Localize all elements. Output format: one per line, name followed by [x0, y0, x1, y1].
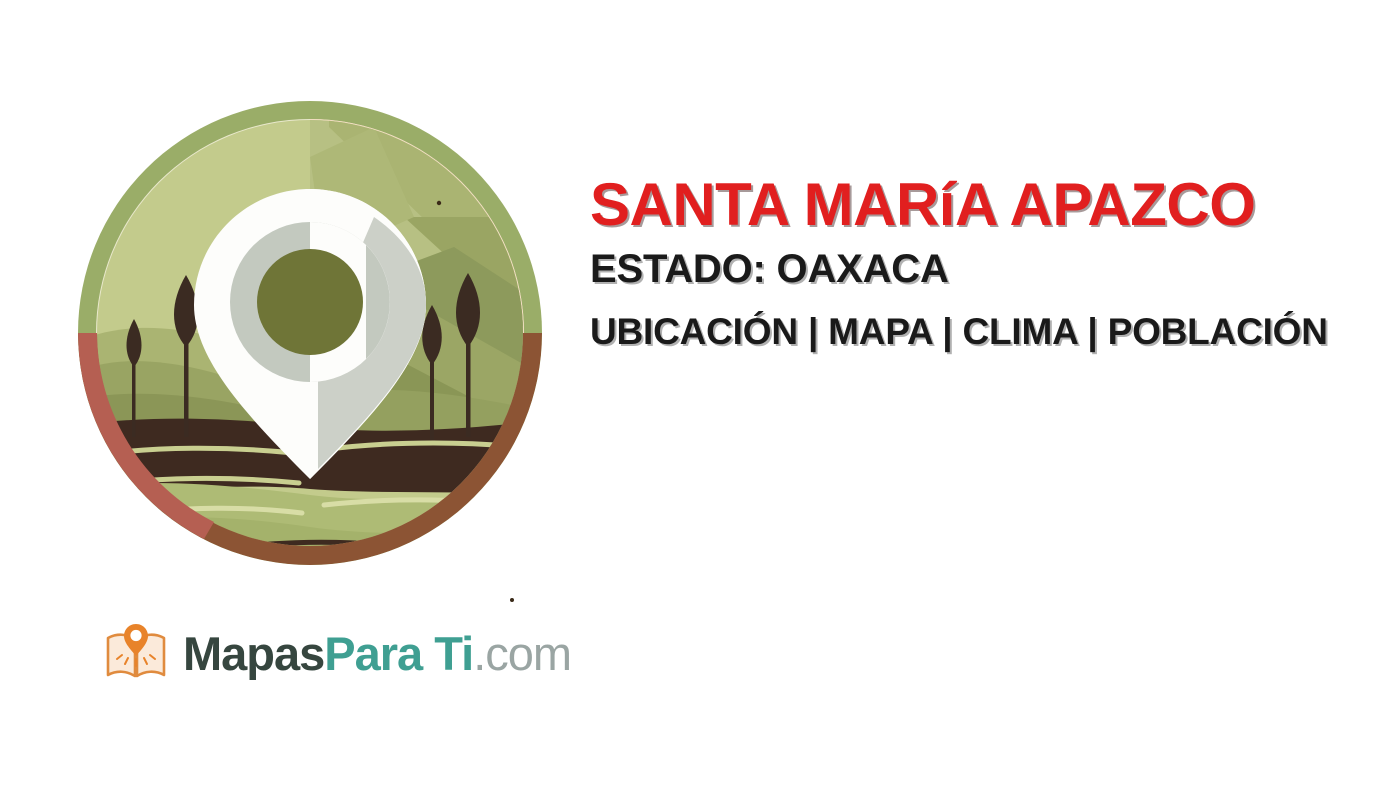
page-root: SANTA MARíA APAZCO ESTADO: OAXACA UBICAC… — [0, 0, 1400, 786]
title-text-block: SANTA MARíA APAZCO ESTADO: OAXACA UBICAC… — [590, 175, 1390, 350]
badge-speck-1 — [437, 201, 441, 205]
brand-word-1: Mapas — [183, 627, 324, 680]
state-line: ESTADO: OAXACA — [590, 249, 1390, 289]
brand-logo[interactable]: MapasPara Ti.com — [103, 620, 571, 686]
sections-line: UBICACIÓN | MAPA | CLIMA | POBLACIÓN — [590, 313, 1390, 350]
brand-word-2: Para Ti — [324, 627, 473, 680]
landscape-badge — [74, 97, 546, 569]
badge-speck-2 — [510, 598, 514, 602]
brand-wordmark: MapasPara Ti.com — [183, 630, 571, 677]
book-pin-icon — [103, 620, 169, 686]
landscape-badge-illustration — [74, 97, 546, 569]
brand-word-3: .com — [473, 627, 571, 680]
badge-pin-center — [257, 249, 363, 355]
page-title: SANTA MARíA APAZCO — [590, 175, 1390, 235]
